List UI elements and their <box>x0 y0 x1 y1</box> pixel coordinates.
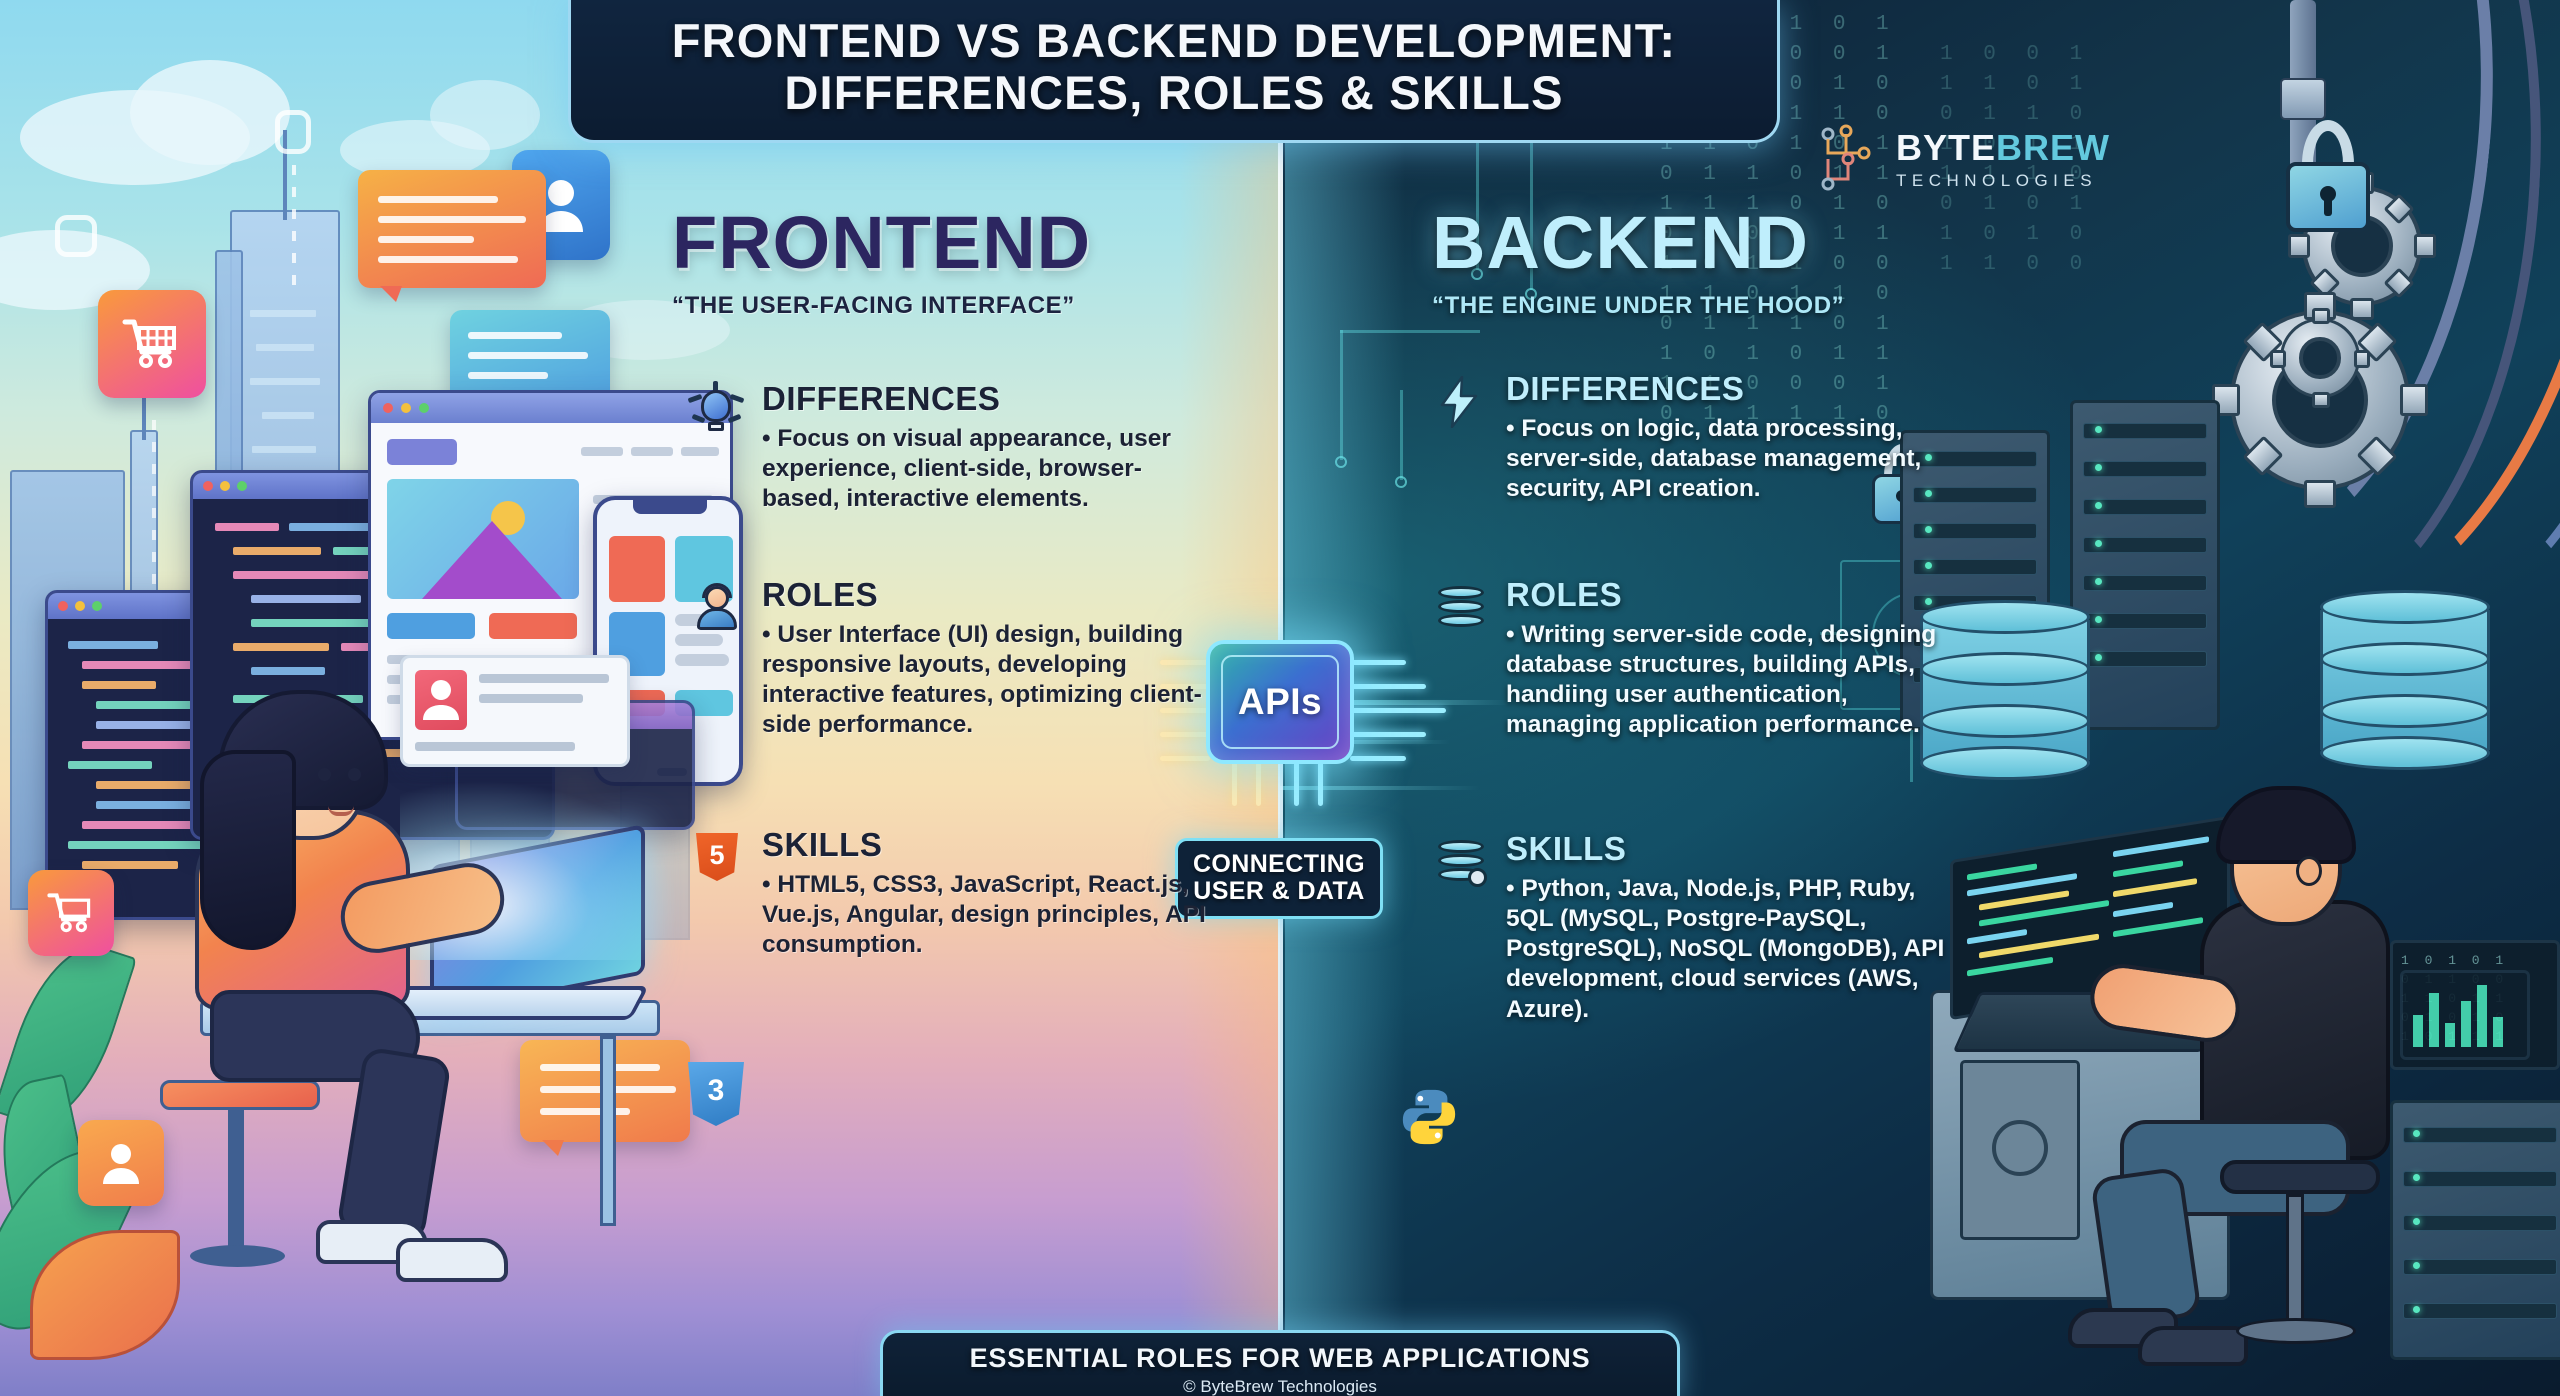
padlock-icon <box>2280 120 2376 236</box>
frontend-section-differences: DIFFERENCES • Focus on visual appearance… <box>688 382 1208 514</box>
maximize-dot-icon <box>92 601 102 611</box>
section-bullet: • User Interface (UI) design, building r… <box>762 620 1208 741</box>
footer-tagline: ESSENTIAL ROLES FOR WEB APPLICATIONS <box>909 1343 1651 1374</box>
footer-banner: ESSENTIAL ROLES FOR WEB APPLICATIONS © B… <box>880 1330 1680 1396</box>
person-hair <box>200 750 296 950</box>
shoe-shape <box>2138 1326 2248 1366</box>
page-title-line2: DIFFERENCES, ROLES & SKILLS <box>611 67 1737 119</box>
close-dot-icon <box>383 403 393 413</box>
backend-section-roles: ROLES • Writing server-side code, design… <box>1432 578 1952 741</box>
frontend-heading: FRONTEND <box>672 206 1192 280</box>
connecting-badge-line1: CONNECTING <box>1186 851 1372 878</box>
html5-shield-icon: 5 <box>688 830 744 886</box>
maximize-dot-icon <box>419 403 429 413</box>
dotted-connector <box>152 420 156 610</box>
backend-column: BACKEND “THE ENGINE UNDER THE HOOD” <box>1432 206 1952 320</box>
brand-logo[interactable]: BYTEBREW TECHNOLOGIES <box>1818 122 2110 199</box>
circuit-logo-icon <box>1818 122 1880 199</box>
maximize-dot-icon <box>237 481 247 491</box>
profile-card-icon <box>78 1120 164 1206</box>
shopping-cart-icon <box>28 870 114 956</box>
cloud-shape <box>130 60 290 165</box>
logo-word-secondary: BREW <box>1996 127 2110 168</box>
apis-chip[interactable]: APIs <box>1206 640 1354 764</box>
backend-developer-illustration: 1 0 1 0 1 0 1 1 0 0 1 1 0 1 1 0 1 0 1 0 … <box>1900 760 2560 1360</box>
frontend-column: FRONTEND “THE USER-FACING INTERFACE” <box>672 206 1192 320</box>
frontend-section-roles: ROLES • User Interface (UI) design, buil… <box>688 578 1208 741</box>
gear-icon <box>1468 868 1487 887</box>
person-hair <box>2216 786 2356 864</box>
section-bullet: • Writing server-side code, designing da… <box>1506 620 1952 741</box>
page-title-line1: FRONTEND VS BACKEND DEVELOPMENT: <box>611 16 1737 67</box>
section-title: ROLES <box>762 578 1208 611</box>
css3-shield-icon: 3 <box>688 1062 744 1126</box>
person-eye <box>348 768 361 781</box>
chip-label: APIs <box>1238 681 1322 723</box>
logo-subtitle: TECHNOLOGIES <box>1896 171 2110 191</box>
section-bullet: • Focus on visual appearance, user exper… <box>762 424 1208 514</box>
minimize-dot-icon <box>75 601 85 611</box>
python-logo-icon <box>1398 1086 1460 1148</box>
profile-card-popup <box>400 655 630 767</box>
section-body: SKILLS • HTML5, CSS3, JavaScript, React.… <box>762 828 1208 960</box>
frontend-section-skills: 5 SKILLS • HTML5, CSS3, JavaScript, Reac… <box>688 828 1208 960</box>
section-title: DIFFERENCES <box>1506 372 1952 405</box>
close-dot-icon <box>203 481 213 491</box>
backend-subtitle: “THE ENGINE UNDER THE HOOD” <box>1432 292 1952 320</box>
hero-image <box>387 479 579 599</box>
server-tower <box>2390 1100 2560 1360</box>
lightbulb-icon <box>688 384 744 440</box>
backend-heading: BACKEND <box>1432 206 1952 280</box>
stool-base <box>190 1245 285 1267</box>
database-cylinder <box>2320 590 2490 780</box>
chart-display <box>2400 970 2530 1060</box>
minimize-dot-icon <box>220 481 230 491</box>
gear-icon <box>2280 318 2360 398</box>
infographic-canvas: 3 1 0 1 1 0 1 1 1 1 0 0 1 0 1 0 0 1 0 1 … <box>0 0 2560 1396</box>
shoe-shape <box>396 1238 508 1282</box>
cloud-shape <box>430 80 540 150</box>
gear-icon <box>1992 1120 2048 1176</box>
desk-leg <box>600 1036 616 1226</box>
backend-section-differences: DIFFERENCES • Focus on logic, data proce… <box>1432 372 1952 504</box>
section-title: SKILLS <box>1506 832 1952 865</box>
title-banner: FRONTEND VS BACKEND DEVELOPMENT: DIFFERE… <box>568 0 1780 143</box>
stool-post <box>2286 1194 2304 1324</box>
section-title: SKILLS <box>762 828 1208 861</box>
section-bullet: • HTML5, CSS3, JavaScript, React.js, Vue… <box>762 870 1208 960</box>
shopping-cart-icon <box>98 290 206 398</box>
section-bullet: • Focus on logic, data processing, serve… <box>1506 414 1952 504</box>
cable-connector <box>2280 78 2326 120</box>
section-body: DIFFERENCES • Focus on visual appearance… <box>762 382 1208 514</box>
database-gear-icon <box>1432 834 1488 890</box>
database-icon <box>1432 580 1488 636</box>
section-body: ROLES • User Interface (UI) design, buil… <box>762 578 1208 741</box>
section-body: DIFFERENCES • Focus on logic, data proce… <box>1506 372 1952 504</box>
close-dot-icon <box>58 601 68 611</box>
stool-post <box>228 1110 244 1250</box>
rounded-square-icon <box>275 110 311 154</box>
section-title: DIFFERENCES <box>762 382 1208 415</box>
section-body: SKILLS • Python, Java, Node.js, PHP, Rub… <box>1506 832 1952 1025</box>
server-rack <box>2070 400 2220 730</box>
connecting-badge-line2: USER & DATA <box>1186 878 1372 905</box>
backend-section-skills: SKILLS • Python, Java, Node.js, PHP, Rub… <box>1432 832 1952 1025</box>
section-bullet: • Python, Java, Node.js, PHP, Ruby, 5QL … <box>1506 874 1952 1025</box>
frontend-subtitle: “THE USER-FACING INTERFACE” <box>672 292 1192 320</box>
avatar <box>415 670 467 730</box>
user-avatar-icon <box>688 580 744 636</box>
stool-base <box>2236 1318 2356 1344</box>
person-eye <box>318 768 331 781</box>
browser-titlebar <box>371 393 730 423</box>
stool-seat <box>2220 1160 2380 1194</box>
footer-copyright: © ByteBrew Technologies <box>909 1377 1651 1396</box>
person-ear <box>2296 856 2322 886</box>
section-title: ROLES <box>1506 578 1952 611</box>
logo-word-primary: BYTE <box>1896 127 1996 168</box>
logo-text-block: BYTEBREW TECHNOLOGIES <box>1896 130 2110 191</box>
chat-bubble-icon <box>358 170 546 288</box>
minimize-dot-icon <box>401 403 411 413</box>
section-body: ROLES • Writing server-side code, design… <box>1506 578 1952 741</box>
stool-seat <box>160 1080 320 1110</box>
dotted-connector <box>292 165 296 285</box>
lightning-bolt-icon <box>1432 374 1488 430</box>
rounded-square-icon <box>55 215 97 257</box>
app-tile <box>609 536 665 602</box>
